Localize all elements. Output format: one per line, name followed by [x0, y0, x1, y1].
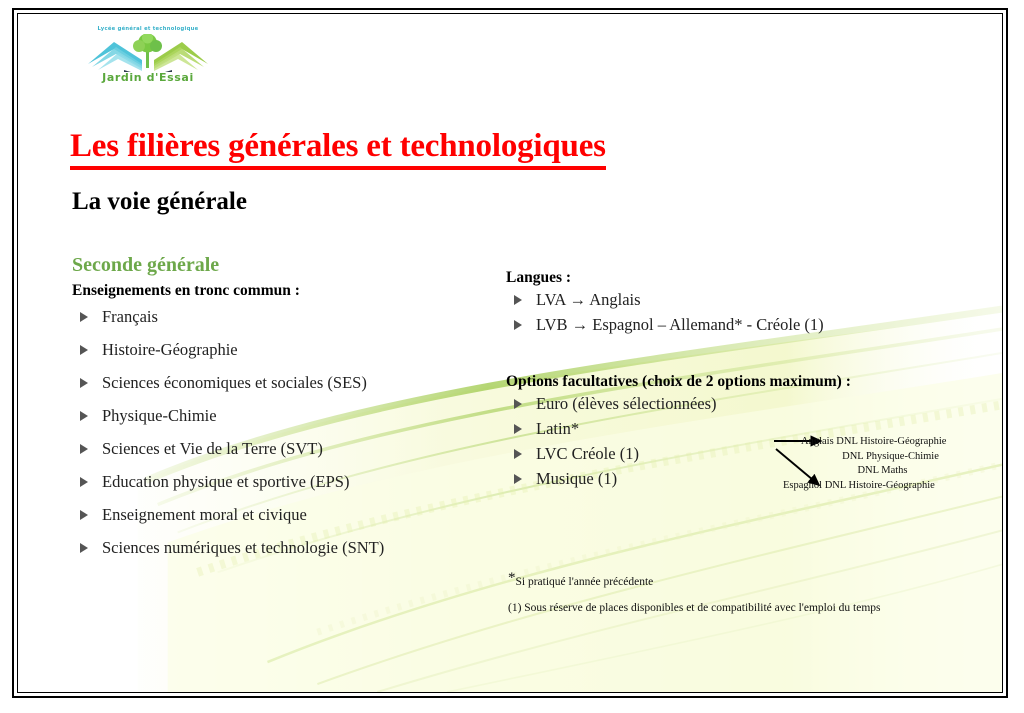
arrow-bullet-icon	[514, 474, 522, 484]
arrow-bullet-icon	[80, 444, 88, 454]
arrow-bullet-icon	[80, 411, 88, 421]
tronc-commun-column: Enseignements en tronc commun : Français…	[72, 282, 502, 564]
slide-inner-frame: Lycée général et technologique	[17, 13, 1003, 693]
list-item: LVA → Anglais	[506, 287, 976, 312]
list-item-label: Enseignement moral et civique	[102, 505, 307, 524]
arrow-bullet-icon	[80, 378, 88, 388]
list-item: Histoire-Géographie	[72, 333, 502, 366]
logo-tagline: Lycée général et technologique	[76, 26, 220, 32]
footnote-star-marker: *	[508, 570, 516, 586]
options-heading: Options facultatives (choix de 2 options…	[506, 373, 976, 391]
logo-name: Jardin d'Essai	[76, 71, 220, 84]
tronc-commun-list: Français Histoire-Géographie Sciences éc…	[72, 300, 502, 564]
list-item-label: Latin*	[536, 419, 579, 438]
list-item-label: Histoire-Géographie	[102, 340, 238, 359]
school-logo: Lycée général et technologique	[76, 26, 220, 88]
langues-heading: Langues :	[506, 269, 976, 287]
list-item-label: Sciences économiques et sociales (SES)	[102, 373, 367, 392]
list-item-label: LVC Créole (1)	[536, 444, 639, 463]
list-item: Enseignement moral et civique	[72, 498, 502, 531]
list-item: Education physique et sportive (EPS)	[72, 465, 502, 498]
arrow-bullet-icon	[514, 320, 522, 330]
list-item: Sciences et Vie de la Terre (SVT)	[72, 432, 502, 465]
dnl-line-3: DNL Maths	[801, 464, 986, 479]
footnote-star-text: Si pratiqué l'année précédente	[516, 576, 654, 588]
list-item: Physique-Chimie	[72, 399, 502, 432]
list-item: Euro (élèves sélectionnées)	[506, 391, 976, 416]
list-item-label: LVA → Anglais	[536, 290, 641, 309]
list-item-label: Euro (élèves sélectionnées)	[536, 394, 717, 413]
list-item-label: Français	[102, 307, 158, 326]
page-title: Les filières générales et technologiques	[70, 128, 606, 170]
sub-title: La voie générale	[72, 188, 247, 216]
list-item-label: Sciences et Vie de la Terre (SVT)	[102, 439, 323, 458]
section-title: Seconde générale	[72, 254, 219, 277]
arrow-bullet-icon	[514, 295, 522, 305]
list-item-label: Physique-Chimie	[102, 406, 217, 425]
tronc-commun-heading: Enseignements en tronc commun :	[72, 282, 502, 300]
list-item-label: Sciences numériques et technologie (SNT)	[102, 538, 384, 557]
list-item: Sciences numériques et technologie (SNT)	[72, 531, 502, 564]
dnl-line-2: DNL Physique-Chimie	[801, 450, 986, 465]
footnote-one: (1) Sous réserve de places disponibles e…	[508, 602, 968, 614]
list-item-label: LVB → Espagnol – Allemand* - Créole (1)	[536, 315, 824, 334]
arrow-bullet-icon	[514, 449, 522, 459]
langues-list: LVA → Anglais LVB → Espagnol – Allemand*…	[506, 287, 976, 337]
list-item: LVB → Espagnol – Allemand* - Créole (1)	[506, 312, 976, 337]
footnotes: *Si pratiqué l'année précédente (1) Sous…	[508, 570, 968, 614]
arrow-bullet-icon	[514, 399, 522, 409]
arrow-bullet-icon	[80, 510, 88, 520]
dnl-line-1: Anglais DNL Histoire-Géographie	[801, 435, 986, 450]
footnote-star: *Si pratiqué l'année précédente	[508, 570, 968, 588]
arrow-bullet-icon	[80, 477, 88, 487]
arrow-bullet-icon	[80, 312, 88, 322]
logo-book-tree-icon	[84, 34, 212, 72]
list-item: Sciences économiques et sociales (SES)	[72, 366, 502, 399]
arrow-bullet-icon	[80, 543, 88, 553]
list-item-label: Musique (1)	[536, 469, 617, 488]
dnl-annotation: Anglais DNL Histoire-Géographie DNL Phys…	[801, 435, 986, 493]
list-item: Français	[72, 300, 502, 333]
dnl-line-4: Espagnol DNL Histoire-Géographie	[783, 479, 986, 494]
slide-outer-frame: Lycée général et technologique	[12, 8, 1008, 698]
list-item-label: Education physique et sportive (EPS)	[102, 472, 349, 491]
arrow-bullet-icon	[80, 345, 88, 355]
arrow-bullet-icon	[514, 424, 522, 434]
